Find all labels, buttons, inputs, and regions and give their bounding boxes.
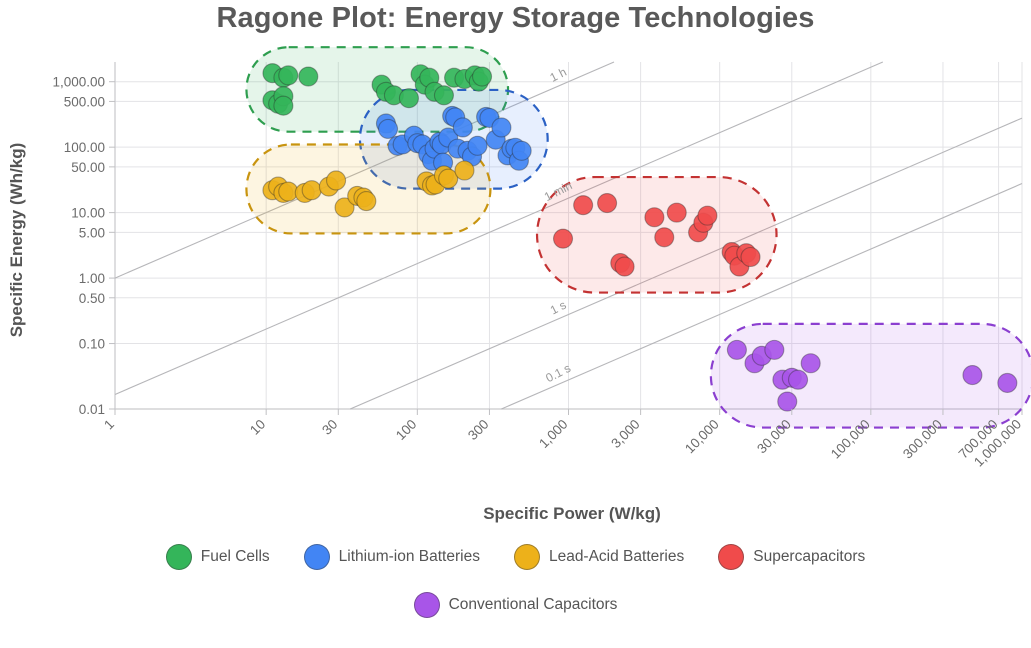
legend-item[interactable]: Lithium-ion Batteries bbox=[304, 544, 480, 570]
y-axis: 1,000.00500.00100.0050.0010.005.001.000.… bbox=[52, 75, 115, 417]
legend-swatch-icon bbox=[514, 544, 540, 570]
legend-swatch-icon bbox=[166, 544, 192, 570]
legend-row-primary: Fuel CellsLithium-ion BatteriesLead-Acid… bbox=[0, 544, 1031, 570]
svg-text:0.10: 0.10 bbox=[79, 337, 105, 352]
svg-text:5.00: 5.00 bbox=[79, 225, 105, 240]
svg-text:0.01: 0.01 bbox=[79, 402, 105, 417]
svg-text:1,000: 1,000 bbox=[536, 417, 571, 452]
legend-label: Lithium-ion Batteries bbox=[339, 548, 480, 566]
legend-swatch-icon bbox=[414, 592, 440, 618]
legend-label: Conventional Capacitors bbox=[449, 596, 618, 614]
svg-text:1.00: 1.00 bbox=[79, 271, 105, 286]
cluster-hulls bbox=[246, 47, 1031, 427]
legend-item[interactable]: Conventional Capacitors bbox=[414, 592, 618, 618]
svg-text:1: 1 bbox=[101, 417, 117, 433]
legend-item[interactable]: Fuel Cells bbox=[166, 544, 270, 570]
legend-swatch-icon bbox=[304, 544, 330, 570]
svg-text:0.50: 0.50 bbox=[79, 291, 105, 306]
legend-row-secondary: Conventional Capacitors bbox=[0, 592, 1031, 618]
legend-label: Lead-Acid Batteries bbox=[549, 548, 684, 566]
svg-text:1 s: 1 s bbox=[548, 298, 569, 318]
ragone-chart: Ragone Plot: Energy Storage Technologies… bbox=[0, 0, 1031, 648]
x-axis-title: Specific Power (W/kg) bbox=[483, 504, 661, 523]
svg-text:500.00: 500.00 bbox=[64, 94, 105, 109]
svg-text:3,000: 3,000 bbox=[608, 417, 643, 452]
svg-text:10: 10 bbox=[247, 417, 268, 438]
svg-text:300: 300 bbox=[465, 417, 492, 444]
svg-text:50.00: 50.00 bbox=[71, 160, 105, 175]
svg-text:1,000.00: 1,000.00 bbox=[52, 75, 105, 90]
legend-swatch-icon bbox=[718, 544, 744, 570]
svg-text:10.00: 10.00 bbox=[71, 206, 105, 221]
svg-text:100.00: 100.00 bbox=[64, 140, 105, 155]
svg-text:30: 30 bbox=[319, 417, 340, 438]
legend-item[interactable]: Lead-Acid Batteries bbox=[514, 544, 684, 570]
legend-label: Fuel Cells bbox=[201, 548, 270, 566]
svg-text:100: 100 bbox=[393, 417, 420, 444]
legend-label: Supercapacitors bbox=[753, 548, 865, 566]
legend-item[interactable]: Supercapacitors bbox=[718, 544, 865, 570]
svg-text:10,000: 10,000 bbox=[682, 417, 722, 457]
y-axis-title: Specific Energy (Wh/kg) bbox=[7, 143, 26, 338]
chart-legend: Fuel CellsLithium-ion BatteriesLead-Acid… bbox=[0, 544, 1031, 618]
